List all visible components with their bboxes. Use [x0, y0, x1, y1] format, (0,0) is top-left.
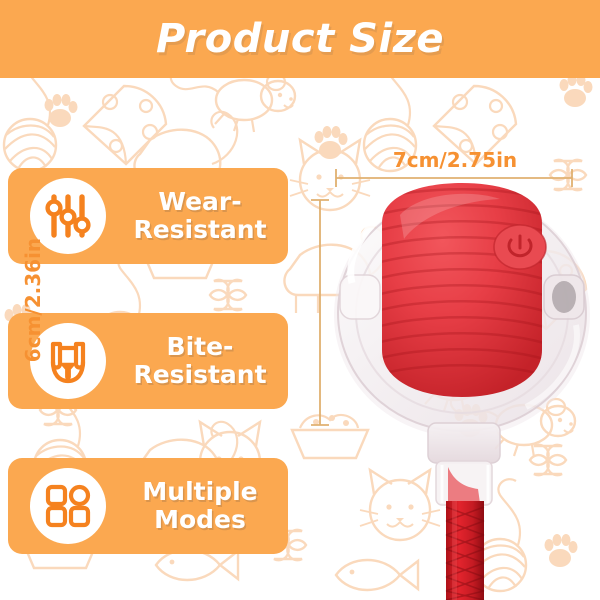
feature-label-wear-resistant: Wear- Resistant [120, 188, 280, 244]
feature-label-bite-resistant: Bite- Resistant [120, 333, 280, 389]
dog-face-icon [44, 338, 92, 384]
feature-badge-wear-resistant[interactable]: Wear- Resistant [8, 168, 288, 264]
grid-modes-icon [45, 484, 91, 528]
dimension-lines [300, 140, 600, 440]
sliders-icon [45, 193, 91, 239]
height-dimension-label: 6cm/2.36in [21, 220, 45, 380]
page-title: Product Size [0, 0, 600, 78]
product-size-infographic: 7cm/2.75in 6cm/2.36in Product Size Wear-… [0, 0, 600, 600]
feature-badge-multiple-modes[interactable]: Multiple Modes [8, 458, 288, 554]
feature-badge-bite-resistant[interactable]: Bite- Resistant [8, 313, 288, 409]
header-banner: Product Size [0, 0, 600, 78]
badge-icon-circle [30, 468, 106, 544]
feature-label-multiple-modes: Multiple Modes [120, 478, 280, 534]
red-rope [446, 501, 484, 600]
width-dimension-label: 7cm/2.75in [335, 148, 575, 172]
